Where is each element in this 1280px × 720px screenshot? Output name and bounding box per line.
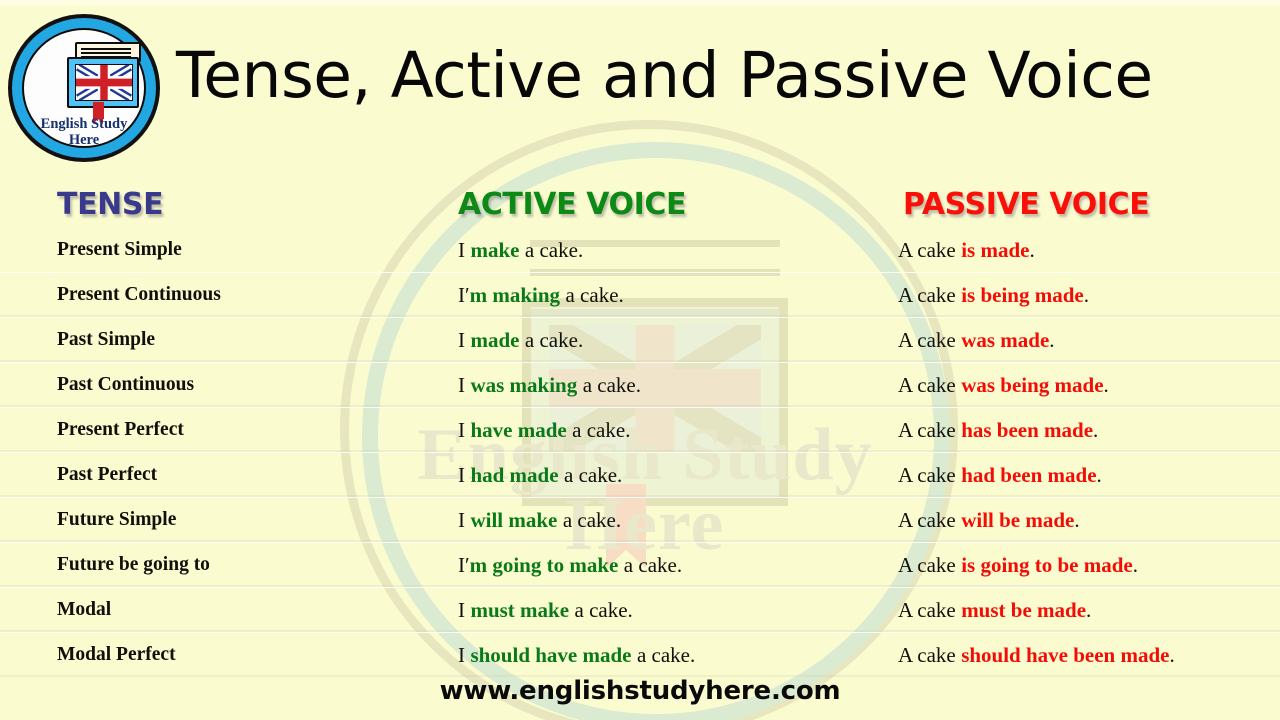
- cell-active-voice: Imust makea cake.: [458, 588, 633, 632]
- table-row: Present SimpleImakea cake.A cakeis made.: [0, 228, 1280, 272]
- active-object: a cake.: [563, 508, 621, 533]
- active-verb-phrase: will make: [470, 508, 557, 533]
- active-subject: I: [458, 643, 465, 668]
- active-subject: I: [458, 418, 465, 443]
- passive-punctuation: .: [1086, 598, 1091, 623]
- active-object: a cake.: [525, 238, 583, 263]
- logo-screen-inner: [75, 64, 133, 101]
- cell-passive-voice: A cakeis made.: [898, 228, 1035, 272]
- passive-subject: A cake: [898, 418, 956, 443]
- tense-voice-table: Present SimpleImakea cake.A cakeis made.…: [0, 228, 1280, 677]
- brand-logo: English Study Here: [8, 14, 160, 162]
- cell-tense: Present Continuous: [57, 273, 221, 317]
- passive-subject: A cake: [898, 283, 956, 308]
- table-row: Modal PerfectIshould have madea cake.A c…: [0, 632, 1280, 677]
- cell-tense: Past Continuous: [57, 363, 194, 407]
- passive-punctuation: .: [1049, 328, 1054, 353]
- table-row: Past ContinuousIwas makinga cake.A cakew…: [0, 362, 1280, 407]
- active-subject: I: [458, 508, 465, 533]
- top-edge-strip: [0, 0, 1280, 5]
- table-row: ModalImust makea cake.A cakemust be made…: [0, 587, 1280, 632]
- active-subject: I: [458, 598, 465, 623]
- passive-verb-phrase: should have been made: [961, 643, 1169, 668]
- cell-passive-voice: A cakehad been made.: [898, 453, 1102, 497]
- cell-tense: Future be going to: [57, 543, 210, 587]
- active-object: a cake.: [583, 373, 641, 398]
- cell-passive-voice: A cakemust be made.: [898, 588, 1091, 632]
- table-row: Future SimpleIwill makea cake.A cakewill…: [0, 497, 1280, 542]
- table-row: Present ContinuousI′m makinga cake.A cak…: [0, 272, 1280, 317]
- cell-active-voice: Iwas makinga cake.: [458, 363, 641, 407]
- active-object: a cake.: [564, 463, 622, 488]
- cell-passive-voice: A cakewas made.: [898, 318, 1055, 362]
- passive-punctuation: .: [1074, 508, 1079, 533]
- active-verb-phrase: made: [470, 328, 519, 353]
- uk-flag-icon: [76, 65, 132, 100]
- footer-website-url: www.englishstudyhere.com: [0, 676, 1280, 706]
- passive-verb-phrase: has been made: [961, 418, 1093, 443]
- active-verb-phrase: was making: [470, 373, 577, 398]
- passive-subject: A cake: [898, 598, 956, 623]
- passive-punctuation: .: [1084, 283, 1089, 308]
- passive-verb-phrase: will be made: [961, 508, 1074, 533]
- poster-canvas: English Study Here: [0, 0, 1280, 720]
- passive-verb-phrase: was being made: [961, 373, 1103, 398]
- passive-verb-phrase: must be made: [961, 598, 1086, 623]
- cell-tense: Present Perfect: [57, 408, 184, 452]
- active-verb-phrase: make: [470, 238, 519, 263]
- passive-punctuation: .: [1104, 373, 1109, 398]
- column-header-passive: PASSIVE VOICE: [903, 187, 1149, 222]
- cell-active-voice: I′m going to makea cake.: [458, 543, 682, 587]
- cell-tense: Past Perfect: [57, 453, 157, 497]
- logo-text-line1: English Study: [24, 116, 144, 132]
- table-row: Present PerfectIhave madea cake.A cakeha…: [0, 407, 1280, 452]
- passive-subject: A cake: [898, 373, 956, 398]
- cell-passive-voice: A cakewill be made.: [898, 498, 1080, 542]
- active-verb-phrase: m going to make: [470, 553, 619, 578]
- passive-subject: A cake: [898, 328, 956, 353]
- active-verb-phrase: must make: [470, 598, 569, 623]
- active-object: a cake.: [565, 283, 623, 308]
- passive-punctuation: .: [1097, 463, 1102, 488]
- cell-passive-voice: A cakehas been made.: [898, 408, 1098, 452]
- active-object: a cake.: [572, 418, 630, 443]
- passive-punctuation: .: [1133, 553, 1138, 578]
- passive-subject: A cake: [898, 553, 956, 578]
- cell-passive-voice: A cakewas being made.: [898, 363, 1109, 407]
- logo-text: English Study Here: [24, 116, 144, 148]
- cell-passive-voice: A cakeis being made.: [898, 273, 1089, 317]
- column-header-tense: TENSE: [57, 187, 163, 222]
- table-row: Future be going toI′m going to makea cak…: [0, 542, 1280, 587]
- cell-tense: Modal: [57, 588, 111, 632]
- active-subject: I: [458, 328, 465, 353]
- cell-tense: Past Simple: [57, 318, 155, 362]
- active-verb-phrase: m making: [470, 283, 560, 308]
- active-subject: I′: [458, 553, 470, 578]
- passive-verb-phrase: is made: [961, 238, 1029, 263]
- active-object: a cake.: [624, 553, 682, 578]
- active-verb-phrase: have made: [470, 418, 566, 443]
- cell-active-voice: Ihave madea cake.: [458, 408, 630, 452]
- cell-active-voice: Imakea cake.: [458, 228, 583, 272]
- active-object: a cake.: [525, 328, 583, 353]
- passive-verb-phrase: had been made: [961, 463, 1096, 488]
- active-object: a cake.: [637, 643, 695, 668]
- passive-subject: A cake: [898, 643, 956, 668]
- active-verb-phrase: had made: [470, 463, 558, 488]
- cell-passive-voice: A cakeshould have been made.: [898, 633, 1175, 677]
- passive-verb-phrase: was made: [961, 328, 1049, 353]
- passive-subject: A cake: [898, 238, 956, 263]
- cell-active-voice: I′m makinga cake.: [458, 273, 624, 317]
- passive-punctuation: .: [1029, 238, 1034, 263]
- passive-punctuation: .: [1169, 643, 1174, 668]
- logo-book-icon: [63, 42, 139, 114]
- cell-active-voice: Ishould have madea cake.: [458, 633, 695, 677]
- active-subject: I′: [458, 283, 470, 308]
- active-subject: I: [458, 373, 465, 398]
- active-object: a cake.: [575, 598, 633, 623]
- cell-tense: Present Simple: [57, 228, 182, 272]
- cell-passive-voice: A cakeis going to be made.: [898, 543, 1138, 587]
- logo-face: English Study Here: [24, 30, 144, 146]
- active-subject: I: [458, 238, 465, 263]
- active-subject: I: [458, 463, 465, 488]
- passive-subject: A cake: [898, 463, 956, 488]
- cell-tense: Modal Perfect: [57, 633, 176, 677]
- table-row: Past SimpleImadea cake.A cakewas made.: [0, 317, 1280, 362]
- active-verb-phrase: should have made: [470, 643, 631, 668]
- passive-verb-phrase: is being made: [961, 283, 1084, 308]
- cell-active-voice: Imadea cake.: [458, 318, 583, 362]
- passive-punctuation: .: [1093, 418, 1098, 443]
- cell-tense: Future Simple: [57, 498, 176, 542]
- passive-subject: A cake: [898, 508, 956, 533]
- passive-verb-phrase: is going to be made: [961, 553, 1133, 578]
- table-row: Past PerfectIhad madea cake.A cakehad be…: [0, 452, 1280, 497]
- cell-active-voice: Ihad madea cake.: [458, 453, 622, 497]
- page-title: Tense, Active and Passive Voice: [176, 44, 1153, 107]
- logo-text-line2: Here: [24, 132, 144, 148]
- cell-active-voice: Iwill makea cake.: [458, 498, 621, 542]
- column-header-active: ACTIVE VOICE: [458, 187, 686, 222]
- logo-book-screen: [67, 57, 139, 108]
